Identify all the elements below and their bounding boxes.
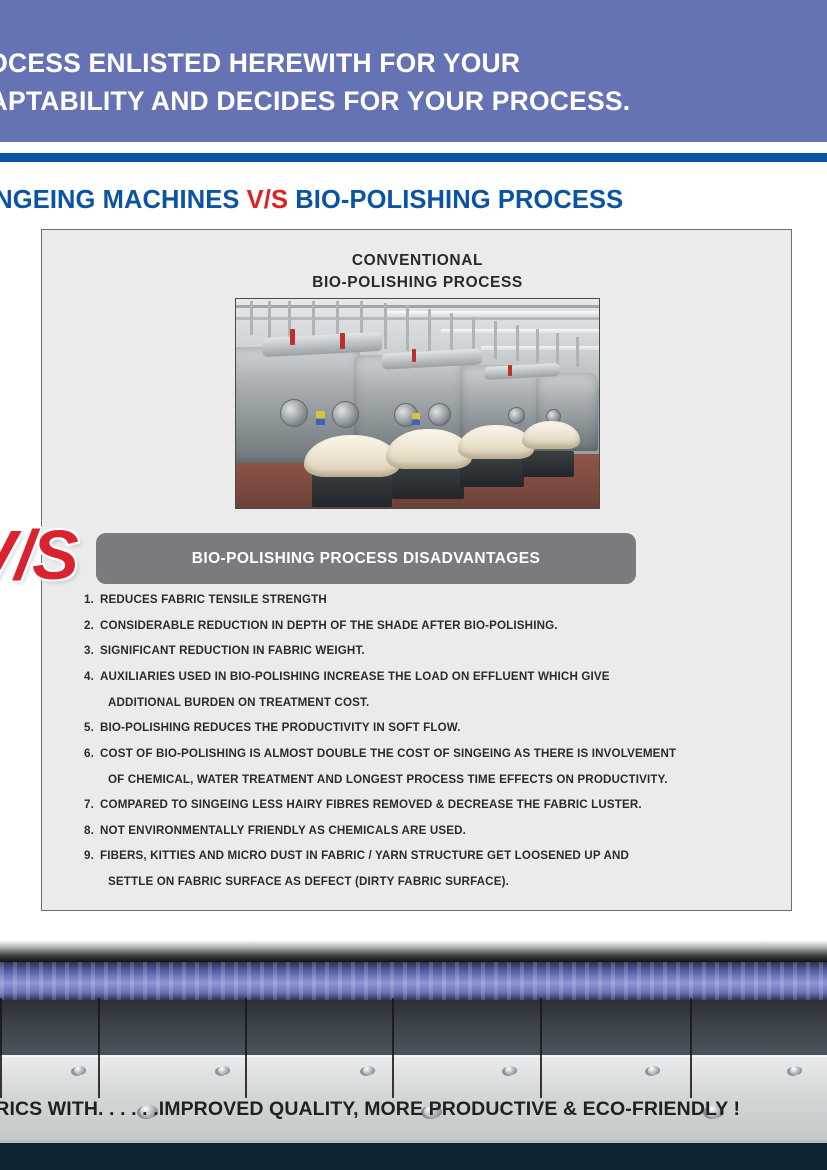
- list-item-number: 3.: [78, 643, 100, 659]
- list-item-number: 5.: [78, 720, 100, 736]
- photo-pipe: [384, 303, 387, 349]
- photo-yellow-label: [412, 413, 420, 419]
- top-banner-text: PROCESS ENLISTED HEREWITH FOR YOUR ADAPT…: [0, 44, 780, 120]
- photo-pipe: [450, 313, 453, 355]
- photo-pipe: [268, 301, 271, 339]
- list-item-number: 4.: [78, 669, 100, 685]
- dyeing-machines-photo: [235, 298, 600, 509]
- list-item: 2. CONSIDERABLE REDUCTION IN DEPTH OF TH…: [78, 618, 788, 634]
- list-item-number: 2.: [78, 618, 100, 634]
- section-title-part-1: SINGEING MACHINES: [0, 186, 247, 214]
- list-item-text: COMPARED TO SINGEING LESS HAIRY FIBRES R…: [100, 797, 788, 813]
- burner-seam: [98, 998, 100, 1098]
- photo-light-tube: [386, 311, 600, 315]
- photo-pipe: [250, 301, 253, 335]
- list-item-line-1: AUXILIARIES USED IN BIO-POLISHING INCREA…: [100, 670, 610, 683]
- photo-pipe: [536, 329, 539, 363]
- list-item-line-1: FIBERS, KITTIES AND MICRO DUST IN FABRIC…: [100, 849, 629, 862]
- burner-top-edge: [0, 940, 827, 962]
- burner-bolt: [74, 1066, 86, 1075]
- burner-flame: [0, 962, 827, 1000]
- photo-light-tube: [441, 329, 600, 333]
- list-item-text: NOT ENVIRONMENTALLY FRIENDLY AS CHEMICAL…: [100, 823, 788, 839]
- list-item: 1. REDUCES FABRIC TENSILE STRENGTH: [78, 592, 788, 608]
- burner-seam: [690, 998, 692, 1098]
- bottom-dark-strip: [0, 1143, 827, 1170]
- list-item: 4. AUXILIARIES USED IN BIO-POLISHING INC…: [78, 669, 788, 711]
- burner-seam: [245, 998, 247, 1098]
- burner-bolt: [790, 1066, 802, 1075]
- photo-pipe: [428, 309, 431, 353]
- photo-light-tube: [481, 346, 600, 350]
- burner-seam: [392, 998, 394, 1098]
- list-item-number: 1.: [78, 592, 100, 608]
- photo-hatch: [428, 403, 451, 426]
- photo-hatch: [508, 407, 525, 424]
- burner-seam: [540, 998, 542, 1098]
- list-item-number: 9.: [78, 848, 100, 864]
- blue-divider-band: [0, 153, 827, 162]
- photo-pipe: [556, 333, 559, 365]
- list-item: 8. NOT ENVIRONMENTALLY FRIENDLY AS CHEMI…: [78, 823, 788, 839]
- photo-yellow-label: [316, 411, 325, 418]
- list-item-text: REDUCES FABRIC TENSILE STRENGTH: [100, 592, 788, 608]
- bottom-tagline: FABRICS WITH. . . . . .IMPROVED QUALITY,…: [0, 1098, 827, 1121]
- burner-bolt: [648, 1066, 660, 1075]
- list-item-text: SIGNIFICANT REDUCTION IN FABRIC WEIGHT.: [100, 643, 788, 659]
- burner-seam: [0, 998, 2, 1098]
- disadvantages-header-bar: BIO-POLISHING PROCESS DISADVANTAGES: [96, 533, 636, 584]
- photo-blue-label: [412, 420, 420, 425]
- list-item: 6. COST OF BIO-POLISHING IS ALMOST DOUBL…: [78, 746, 788, 788]
- photo-hatch: [280, 399, 308, 427]
- photo-red-accent: [508, 365, 512, 376]
- list-item: 3. SIGNIFICANT REDUCTION IN FABRIC WEIGH…: [78, 643, 788, 659]
- section-title-vs: V/S: [247, 186, 288, 214]
- photo-hatch: [332, 401, 359, 428]
- panel-heading: CONVENTIONAL BIO-POLISHING PROCESS: [42, 250, 793, 294]
- list-item: 5. BIO-POLISHING REDUCES THE PRODUCTIVIT…: [78, 720, 788, 736]
- comparison-panel: CONVENTIONAL BIO-POLISHING PROCESS: [41, 229, 792, 911]
- burner-body: [0, 1000, 827, 1055]
- photo-red-accent: [412, 349, 416, 362]
- list-item-text: BIO-POLISHING REDUCES THE PRODUCTIVITY I…: [100, 720, 788, 736]
- photo-blue-label: [316, 419, 325, 425]
- section-title: SINGEING MACHINES V/S BIO-POLISHING PROC…: [0, 186, 827, 215]
- list-item-line-2: OF CHEMICAL, WATER TREATMENT AND LONGEST…: [100, 772, 788, 788]
- list-item: 9. FIBERS, KITTIES AND MICRO DUST IN FAB…: [78, 848, 788, 890]
- white-divider-band: [0, 142, 827, 153]
- burner-bolt: [505, 1066, 517, 1075]
- list-item-number: 6.: [78, 746, 100, 762]
- vs-badge: V/S: [0, 515, 77, 595]
- photo-red-accent: [290, 329, 295, 345]
- top-banner: PROCESS ENLISTED HEREWITH FOR YOUR ADAPT…: [0, 0, 827, 142]
- list-item-line-2: SETTLE ON FABRIC SURFACE AS DEFECT (DIRT…: [100, 874, 788, 890]
- top-banner-line-2: ADAPTABILITY AND DECIDES FOR YOUR PROCES…: [0, 82, 780, 120]
- section-title-part-2: BIO-POLISHING PROCESS: [288, 186, 623, 214]
- top-banner-line-1: PROCESS ENLISTED HEREWITH FOR YOUR: [0, 44, 780, 82]
- panel-heading-line-1: CONVENTIONAL: [42, 250, 793, 272]
- list-item-number: 8.: [78, 823, 100, 839]
- disadvantages-list: 1. REDUCES FABRIC TENSILE STRENGTH 2. CO…: [78, 592, 788, 900]
- photo-pipe: [406, 305, 409, 351]
- disadvantages-header-label: BIO-POLISHING PROCESS DISADVANTAGES: [192, 550, 540, 568]
- list-item: 7. COMPARED TO SINGEING LESS HAIRY FIBRE…: [78, 797, 788, 813]
- list-item-text: FIBERS, KITTIES AND MICRO DUST IN FABRIC…: [100, 848, 788, 890]
- list-item-line-1: COST OF BIO-POLISHING IS ALMOST DOUBLE T…: [100, 747, 676, 760]
- burner-bolt: [218, 1066, 230, 1075]
- list-item-text: COST OF BIO-POLISHING IS ALMOST DOUBLE T…: [100, 746, 788, 788]
- panel-heading-line-2: BIO-POLISHING PROCESS: [42, 272, 793, 294]
- photo-pipe: [576, 337, 579, 367]
- photo-red-accent: [340, 333, 345, 349]
- photo-pipe: [516, 325, 519, 361]
- burner-bolt: [363, 1066, 375, 1075]
- photo-crate: [392, 465, 464, 499]
- list-item-number: 7.: [78, 797, 100, 813]
- photo-pipe: [494, 321, 497, 359]
- list-item-text: CONSIDERABLE REDUCTION IN DEPTH OF THE S…: [100, 618, 788, 634]
- list-item-text: AUXILIARIES USED IN BIO-POLISHING INCREA…: [100, 669, 788, 711]
- list-item-line-2: ADDITIONAL BURDEN ON TREATMENT COST.: [100, 695, 788, 711]
